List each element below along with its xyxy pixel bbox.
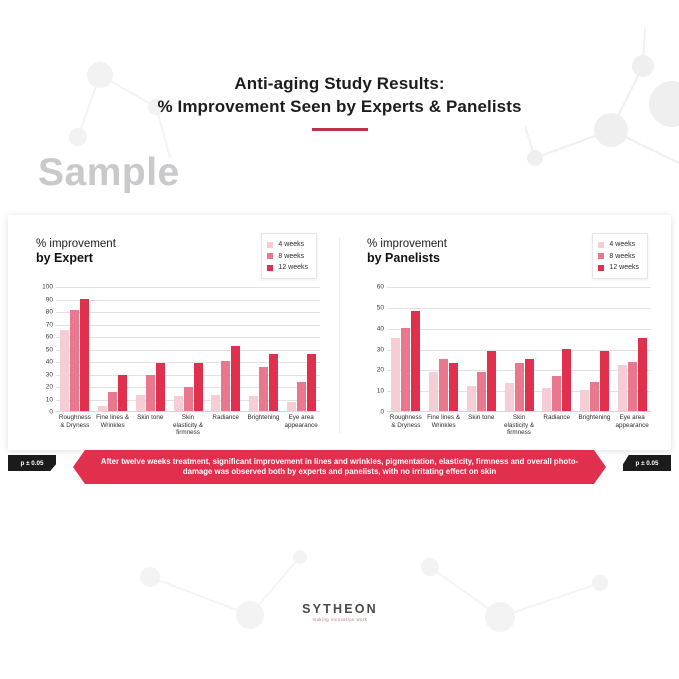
expert-bar-12-weeks (307, 354, 316, 412)
expert-y-tick-label: 0 (35, 409, 53, 416)
panelists-chart-heading: % improvement by Panelists (367, 237, 447, 266)
expert-heading-line1: % improvement (36, 237, 116, 251)
panelists-x-label: Radiance (538, 414, 576, 437)
expert-bar-group (207, 287, 245, 411)
panelists-bar-12-weeks (600, 351, 609, 411)
expert-grid-area (56, 287, 320, 412)
panelists-bar-8-weeks (628, 362, 637, 411)
expert-chart-heading: % improvement by Expert (36, 237, 116, 266)
sytheon-logo: SYTHEON making innovation work (264, 593, 416, 631)
panelists-x-label: Fine lines & Wrinkles (425, 414, 463, 437)
panelists-bar-group (500, 287, 538, 411)
panelists-y-axis: 0102030405060 (365, 287, 387, 412)
expert-bar-4-weeks (287, 402, 296, 411)
expert-y-axis: 0102030405060708090100 (34, 287, 56, 412)
legend-label: 12 weeks (609, 264, 639, 271)
expert-x-label: Fine lines & Wrinkles (94, 414, 132, 437)
legend-label: 12 weeks (278, 264, 308, 271)
panelists-bar-12-weeks (411, 311, 420, 411)
expert-bar-12-weeks (80, 299, 89, 412)
expert-y-tick-label: 20 (35, 384, 53, 391)
panelists-x-label: Eye area appearance (613, 414, 651, 437)
expert-bar-8-weeks (108, 392, 117, 411)
panelists-bar-4-weeks (505, 383, 514, 411)
legend-swatch-icon (598, 253, 604, 259)
panelists-y-tick-label: 20 (366, 367, 384, 374)
legend-swatch-icon (598, 265, 604, 271)
expert-bar-4-weeks (249, 396, 258, 411)
panelists-bar-group (538, 287, 576, 411)
expert-bar-12-weeks (231, 346, 240, 411)
panelists-legend-row: 8 weeks (598, 251, 639, 261)
page-title: Anti-aging Study Results: % Improvement … (0, 72, 679, 131)
panelists-heading-line2: by Panelists (367, 251, 447, 266)
expert-bar-group (56, 287, 94, 411)
expert-y-tick-label: 60 (35, 334, 53, 341)
legend-label: 8 weeks (609, 253, 635, 260)
panelists-x-label: Skin elasticity & firmness (500, 414, 538, 437)
title-line-2: % Improvement Seen by Experts & Panelist… (0, 95, 679, 118)
panelists-bar-8-weeks (590, 382, 599, 411)
legend-label: 4 weeks (278, 241, 304, 248)
panelists-bar-group (613, 287, 651, 411)
legend-label: 4 weeks (609, 241, 635, 248)
expert-bar-group (94, 287, 132, 411)
expert-bar-8-weeks (221, 361, 230, 411)
legend-label: 8 weeks (278, 253, 304, 260)
expert-bar-4-weeks (98, 406, 107, 411)
panelists-bar-8-weeks (515, 363, 524, 411)
panelists-x-label: Skin tone (462, 414, 500, 437)
expert-x-label: Skin elasticity & firmness (169, 414, 207, 437)
panelists-bar-12-weeks (449, 363, 458, 411)
expert-y-tick-label: 40 (35, 359, 53, 366)
expert-plot-area: 0102030405060708090100 Roughness & Dryne… (34, 287, 320, 412)
expert-y-tick-label: 50 (35, 346, 53, 353)
expert-y-tick-label: 80 (35, 309, 53, 316)
expert-heading-line2: by Expert (36, 251, 116, 266)
charts-card: % improvement by Expert 4 weeks8 weeks12… (8, 215, 671, 450)
panelists-bar-4-weeks (580, 390, 589, 411)
expert-bar-groups (56, 287, 320, 411)
panelists-legend-row: 4 weeks (598, 240, 639, 250)
panelists-bar-4-weeks (391, 338, 400, 411)
expert-y-tick-label: 30 (35, 371, 53, 378)
panelists-bar-4-weeks (429, 372, 438, 411)
panelists-bar-8-weeks (477, 372, 486, 411)
expert-bar-12-weeks (118, 375, 127, 411)
legend-swatch-icon (267, 253, 273, 259)
expert-bar-8-weeks (146, 375, 155, 411)
conclusion-banner-text: After twelve weeks treatment, significan… (99, 457, 580, 478)
panelists-bar-12-weeks (562, 349, 571, 412)
chart-panel-expert: % improvement by Expert 4 weeks8 weeks12… (8, 215, 339, 450)
expert-x-axis-labels: Roughness & DrynessFine lines & Wrinkles… (56, 414, 320, 437)
panelists-legend-row: 12 weeks (598, 263, 639, 273)
title-line-1: Anti-aging Study Results: (0, 72, 679, 95)
sample-watermark: Sample (38, 151, 180, 195)
expert-y-tick-label: 70 (35, 321, 53, 328)
expert-x-label: Roughness & Dryness (56, 414, 94, 437)
panelists-bar-8-weeks (552, 376, 561, 411)
panelists-bar-group (425, 287, 463, 411)
expert-bar-group (245, 287, 283, 411)
panelists-bar-group (387, 287, 425, 411)
panelists-bar-8-weeks (401, 328, 410, 411)
chart-panel-panelists: % improvement by Panelists 4 weeks8 week… (339, 215, 670, 450)
expert-bar-8-weeks (184, 387, 193, 411)
expert-x-label: Skin tone (131, 414, 169, 437)
legend-swatch-icon (267, 265, 273, 271)
conclusion-banner-row: p ± 0.05 After twelve weeks treatment, s… (0, 450, 679, 486)
panelists-bar-8-weeks (439, 359, 448, 411)
expert-x-label: Radiance (207, 414, 245, 437)
panelists-x-axis-labels: Roughness & DrynessFine lines & Wrinkles… (387, 414, 651, 437)
panelists-bar-group (576, 287, 614, 411)
panelists-y-tick-label: 10 (366, 388, 384, 395)
title-underline-rule (312, 128, 368, 131)
panelists-bar-group (462, 287, 500, 411)
expert-bar-group (131, 287, 169, 411)
expert-legend-row: 8 weeks (267, 251, 308, 261)
slide-canvas: Anti-aging Study Results: % Improvement … (0, 0, 679, 679)
panelists-bar-12-weeks (638, 338, 647, 411)
panelists-bar-4-weeks (618, 365, 627, 411)
panelists-y-tick-label: 40 (366, 325, 384, 332)
expert-bar-4-weeks (211, 395, 220, 411)
expert-bar-group (169, 287, 207, 411)
expert-y-tick-label: 100 (35, 284, 53, 291)
panelists-bar-12-weeks (487, 351, 496, 411)
panelists-x-label: Brightening (576, 414, 614, 437)
panelists-bar-4-weeks (467, 386, 476, 411)
expert-bar-12-weeks (194, 363, 203, 411)
logo-tagline: making innovation work (313, 617, 368, 622)
expert-bar-group (282, 287, 320, 411)
legend-swatch-icon (267, 242, 273, 248)
panelists-y-tick-label: 0 (366, 409, 384, 416)
expert-legend-row: 4 weeks (267, 240, 308, 250)
expert-bar-4-weeks (174, 396, 183, 411)
panelists-plot-area: 0102030405060 Roughness & DrynessFine li… (365, 287, 651, 412)
expert-bar-4-weeks (60, 330, 69, 411)
conclusion-banner: After twelve weeks treatment, significan… (73, 450, 606, 484)
panelists-y-tick-label: 60 (366, 284, 384, 291)
expert-legend-row: 12 weeks (267, 263, 308, 273)
legend-panelists: 4 weeks8 weeks12 weeks (592, 233, 648, 279)
expert-bar-4-weeks (136, 395, 145, 411)
panelists-grid-area (387, 287, 651, 412)
panelists-y-tick-label: 50 (366, 304, 384, 311)
expert-x-label: Eye area appearance (282, 414, 320, 437)
expert-bar-12-weeks (269, 354, 278, 412)
p-value-badge-right: p ± 0.05 (623, 455, 671, 471)
legend-expert: 4 weeks8 weeks12 weeks (261, 233, 317, 279)
panelists-y-tick-label: 30 (366, 346, 384, 353)
panelists-heading-line1: % improvement (367, 237, 447, 251)
expert-bar-8-weeks (297, 382, 306, 411)
expert-bar-12-weeks (156, 363, 165, 411)
legend-swatch-icon (598, 242, 604, 248)
expert-y-tick-label: 90 (35, 296, 53, 303)
panelists-bar-12-weeks (525, 359, 534, 411)
p-value-badge-left: p ± 0.05 (8, 455, 56, 471)
expert-bar-8-weeks (70, 310, 79, 411)
panelists-x-label: Roughness & Dryness (387, 414, 425, 437)
expert-y-tick-label: 10 (35, 396, 53, 403)
panelists-bar-4-weeks (542, 388, 551, 411)
logo-wordmark: SYTHEON (302, 602, 378, 616)
expert-x-label: Brightening (245, 414, 283, 437)
panelists-bar-groups (387, 287, 651, 411)
expert-bar-8-weeks (259, 367, 268, 411)
